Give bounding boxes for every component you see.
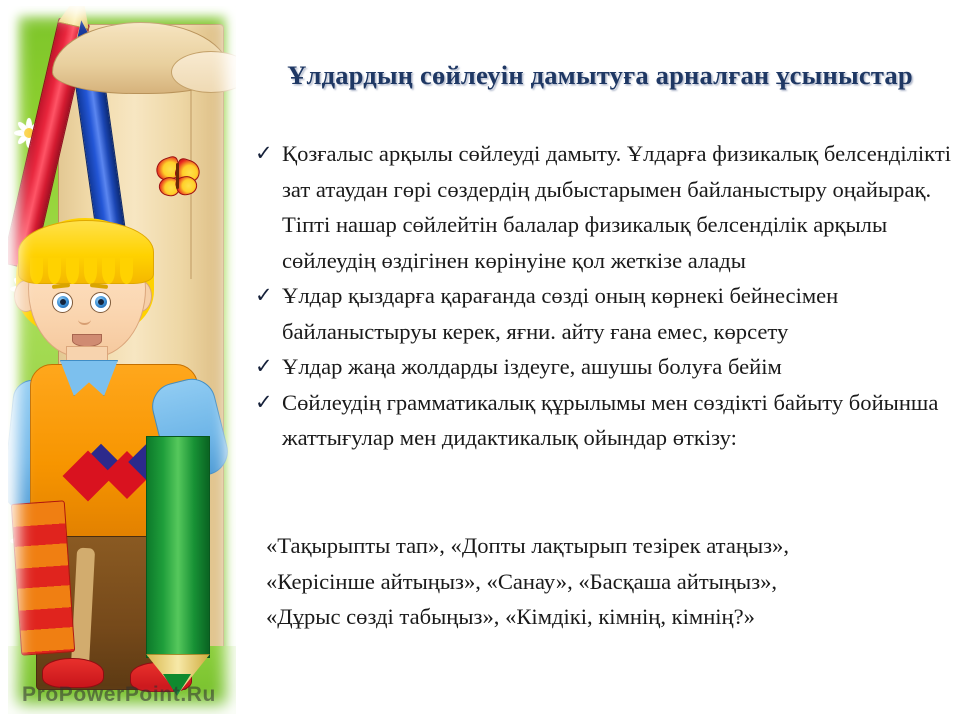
list-item-text: Сөйлеудің грамматикалық құрылымы мен сөз… bbox=[282, 385, 954, 456]
checkmark-icon: ✓ bbox=[248, 385, 282, 421]
eye-left bbox=[52, 292, 73, 313]
closing-paragraph: «Тақырыпты тап», «Допты лақтырып тезірек… bbox=[248, 528, 954, 635]
checkmark-icon: ✓ bbox=[248, 278, 282, 314]
list-item: ✓ Қозғалыс арқылы сөйлеуді дамыту. Ұлдар… bbox=[248, 136, 954, 278]
crayon-box bbox=[11, 500, 75, 655]
list-item-text: Ұлдар жаңа жолдарды іздеуге, ашушы болуғ… bbox=[282, 349, 954, 385]
closing-line: «Керісінше айтыңыз», «Санау», «Басқаша а… bbox=[248, 564, 954, 600]
text-content: Ұлдардың сөйлеуін дамытуға арналған ұсын… bbox=[238, 0, 960, 720]
butterfly-icon bbox=[156, 158, 200, 196]
nose bbox=[78, 314, 91, 325]
eye-right bbox=[90, 292, 111, 313]
slide-root: ProPowerPoint.Ru Ұлдардың сөйлеуін дамыт… bbox=[0, 0, 960, 720]
green-pencil-icon bbox=[146, 436, 210, 658]
closing-line: «Тақырыпты тап», «Допты лақтырып тезірек… bbox=[248, 528, 954, 564]
watermark: ProPowerPoint.Ru bbox=[22, 682, 208, 708]
checkmark-icon: ✓ bbox=[248, 136, 282, 172]
list-item-text: Қозғалыс арқылы сөйлеуді дамыту. Ұлдарға… bbox=[282, 136, 954, 278]
list-item: ✓ Ұлдар қыздарға қарағанда сөзді оның кө… bbox=[248, 278, 954, 349]
illustration-panel: ProPowerPoint.Ru bbox=[8, 6, 236, 714]
list-item: ✓ Ұлдар жаңа жолдарды іздеуге, ашушы бол… bbox=[248, 349, 954, 385]
bullet-list: ✓ Қозғалыс арқылы сөйлеуді дамыту. Ұлдар… bbox=[248, 136, 954, 456]
list-item-text: Ұлдар қыздарға қарағанда сөзді оның көрн… bbox=[282, 278, 954, 349]
closing-line: «Дұрыс сөзді табыңыз», «Кімдікі, кімнің,… bbox=[248, 599, 954, 635]
list-item: ✓ Сөйлеудің грамматикалық құрылымы мен с… bbox=[248, 385, 954, 456]
checkmark-icon: ✓ bbox=[248, 349, 282, 385]
page-title: Ұлдардың сөйлеуін дамытуға арналған ұсын… bbox=[250, 58, 950, 93]
